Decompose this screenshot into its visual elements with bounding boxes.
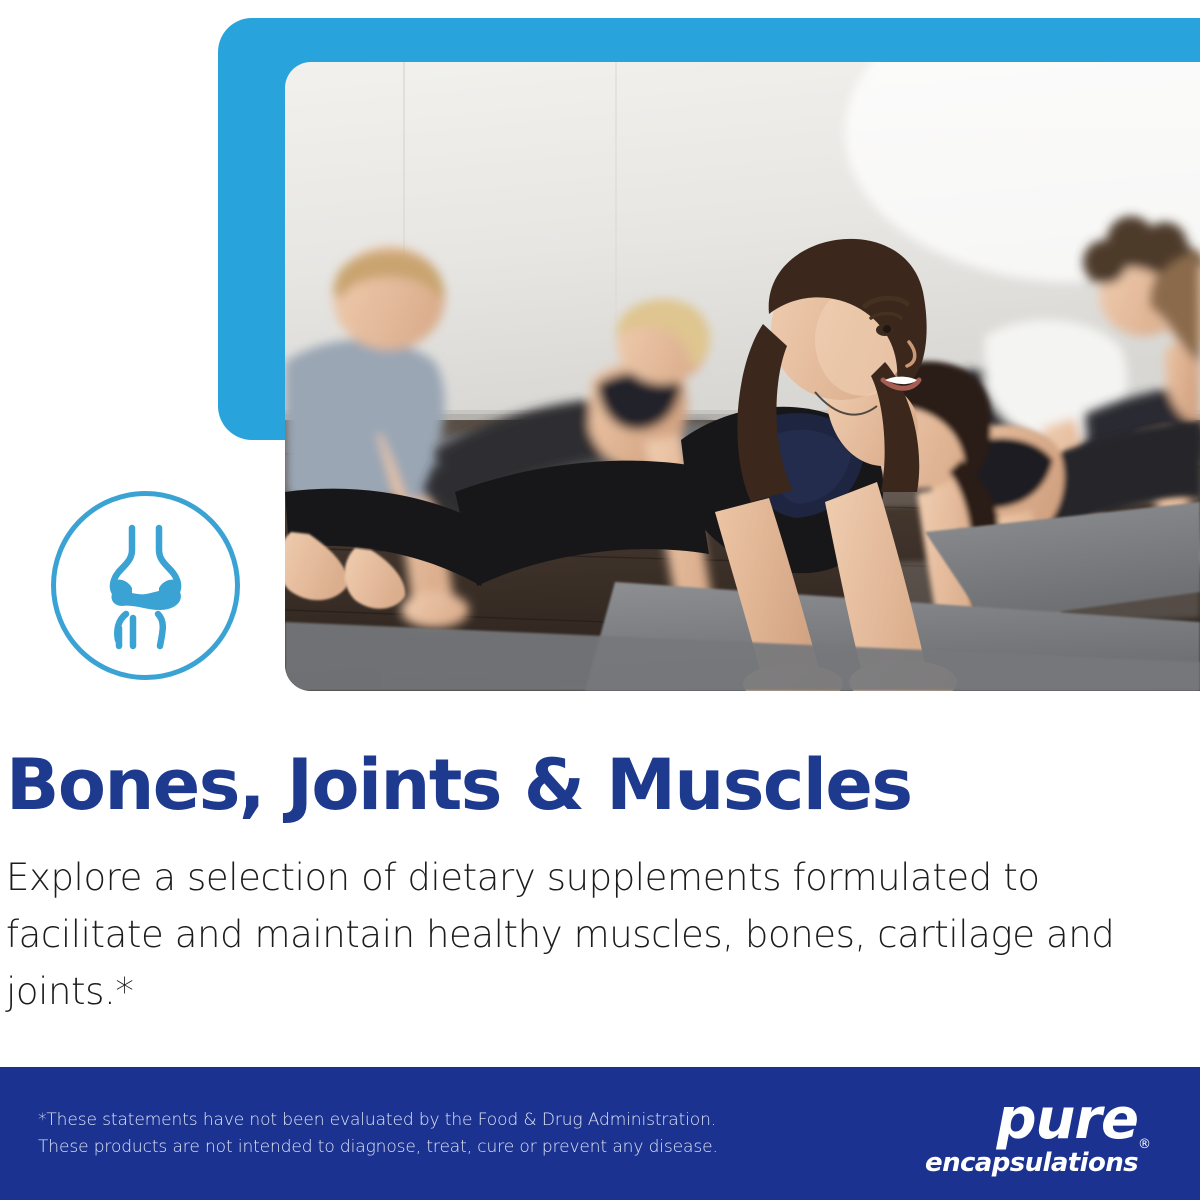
- knee-joint-icon: [48, 488, 243, 683]
- product-category-banner: Bones, Joints & Muscles Explore a select…: [0, 0, 1200, 1200]
- brand-wordmark: pure: [925, 1092, 1138, 1148]
- registered-trademark-icon: ®: [1138, 1138, 1151, 1151]
- pure-encapsulations-logo: pure encapsulations ®: [925, 1092, 1138, 1176]
- page-description: Explore a selection of dietary supplemen…: [6, 849, 1126, 1020]
- footer-bar: *These statements have not been evaluate…: [0, 1067, 1200, 1200]
- page-title: Bones, Joints & Muscles: [6, 745, 1136, 825]
- hero-photo: [285, 62, 1200, 691]
- copy-block: Bones, Joints & Muscles Explore a select…: [6, 745, 1136, 1020]
- fda-disclaimer-text: *These statements have not been evaluate…: [38, 1107, 718, 1161]
- hero-section: [0, 0, 1200, 700]
- brand-subwordmark-row: encapsulations ®: [925, 1150, 1138, 1176]
- brand-subwordmark: encapsulations: [925, 1148, 1138, 1178]
